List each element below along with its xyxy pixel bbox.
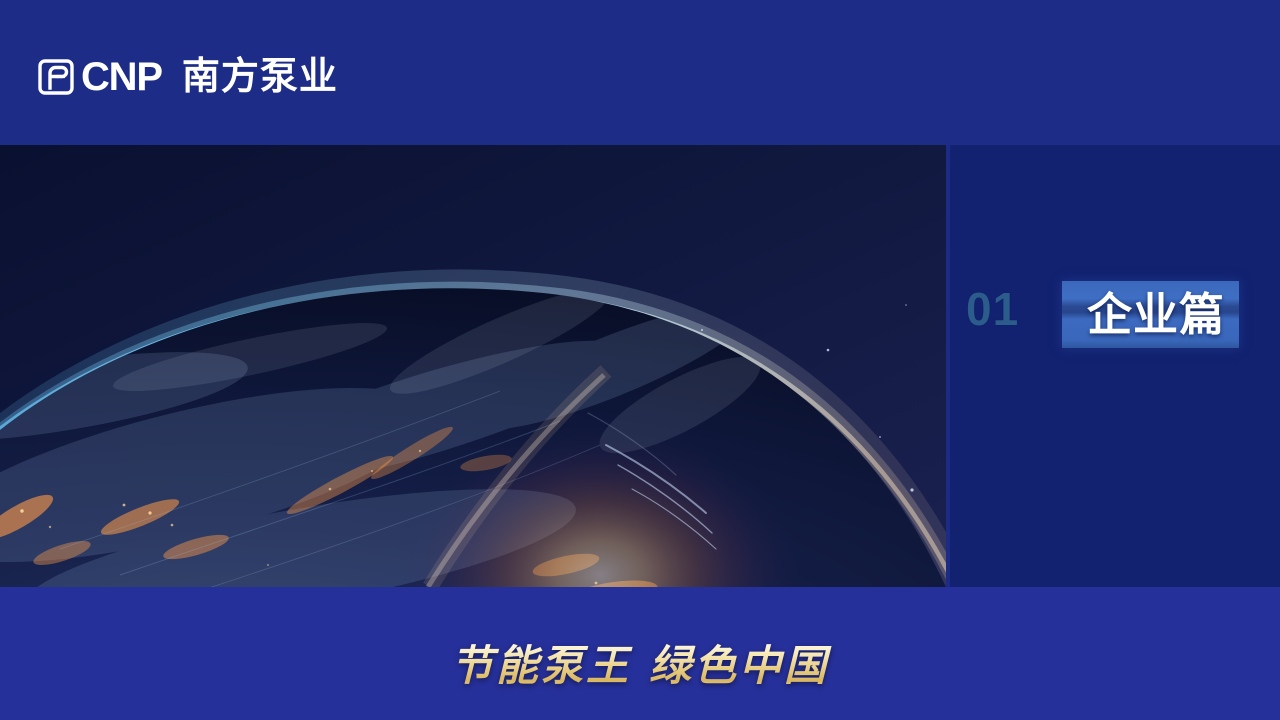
section-title: 企业篇: [1072, 285, 1240, 345]
slogan-part-2: 绿色中国: [649, 641, 829, 690]
logo-chinese-wordmark: 南方泵业: [182, 58, 338, 96]
slogan-part-1: 节能泵王: [451, 641, 631, 690]
brand-logo[interactable]: CNP 南方泵业: [38, 55, 338, 99]
logo-latin-wordmark: CNP: [81, 57, 162, 97]
section-number: 01: [966, 286, 1019, 332]
presentation-slide: CNP 南方泵业: [0, 0, 1280, 720]
company-slogan: 节能泵王绿色中国: [0, 640, 1280, 692]
cnp-monogram-icon: [38, 59, 74, 95]
section-panel: [950, 145, 1280, 587]
earth-from-space-image: [0, 145, 946, 587]
